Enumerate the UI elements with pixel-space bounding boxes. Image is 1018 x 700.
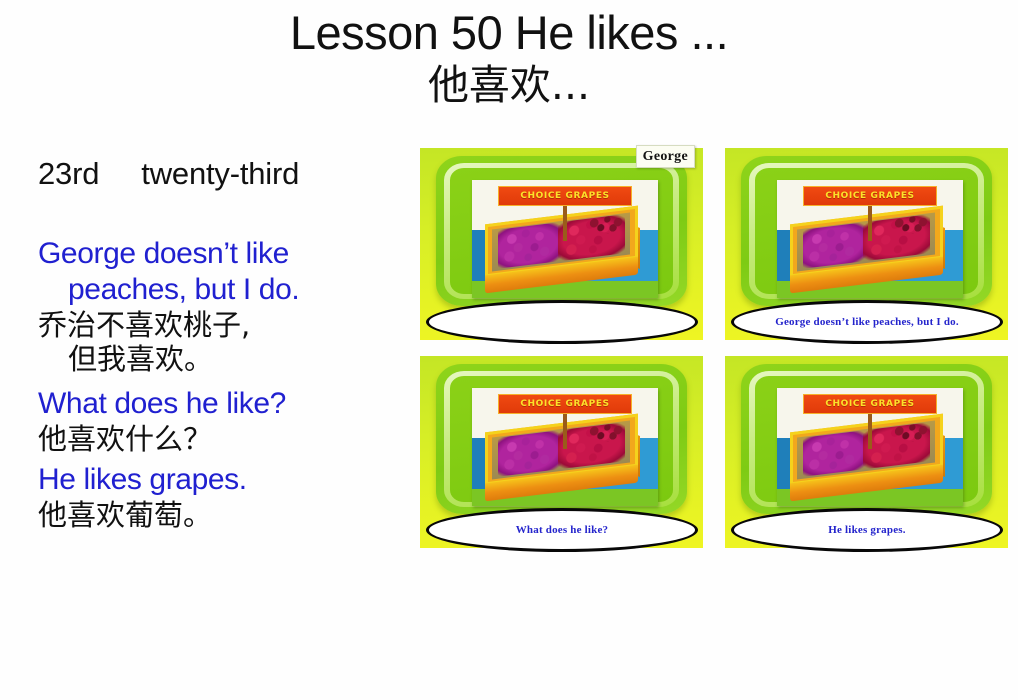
panel-frame-ring: CHOICE GRAPES bbox=[444, 163, 679, 299]
panel-frame-ring: CHOICE GRAPES bbox=[749, 371, 984, 507]
illustration-panel-3[interactable]: CHOICE GRAPES bbox=[420, 356, 703, 548]
sentence-1-english-line-2: peaches, but I do. bbox=[38, 272, 413, 308]
panel-frame-ring: CHOICE GRAPES bbox=[749, 163, 984, 299]
grape-stall-picture: CHOICE GRAPES bbox=[472, 180, 658, 298]
choice-grapes-sign: CHOICE GRAPES bbox=[803, 394, 937, 414]
sentence-2-english: What does he like? bbox=[38, 386, 413, 422]
panel-frame: CHOICE GRAPES bbox=[741, 156, 992, 306]
panel-frame-bed: CHOICE GRAPES bbox=[450, 168, 673, 294]
speech-bubble-4-text: He likes grapes. bbox=[828, 524, 905, 536]
speech-bubble-2: George doesn’t like peaches, but I do. bbox=[731, 300, 1003, 344]
lesson-text-column: 23rd twenty-third George doesn’t like pe… bbox=[38, 156, 413, 532]
sentence-1-chinese-line-2: 但我喜欢。 bbox=[38, 342, 413, 376]
speech-bubble-3: What does he like? bbox=[426, 508, 698, 552]
page-title-chinese: 他喜欢... bbox=[0, 63, 1018, 109]
grape-stall-picture: CHOICE GRAPES bbox=[777, 180, 963, 298]
illustration-grid: CHOICE GRAPES bbox=[420, 148, 1010, 548]
george-nametag-text: George bbox=[643, 149, 688, 164]
illustration-panel-4[interactable]: CHOICE GRAPES bbox=[725, 356, 1008, 548]
panel-frame-bed: CHOICE GRAPES bbox=[755, 376, 978, 502]
panel-frame-bed: CHOICE GRAPES bbox=[755, 168, 978, 294]
sentence-1-chinese-line-1: 乔治不喜欢桃子, bbox=[38, 308, 250, 342]
purple-grapes-cluster bbox=[803, 222, 866, 269]
purple-grapes-cluster bbox=[498, 222, 561, 269]
choice-grapes-sign: CHOICE GRAPES bbox=[803, 186, 937, 206]
choice-grapes-sign: CHOICE GRAPES bbox=[498, 186, 632, 206]
george-nametag: George bbox=[636, 145, 695, 168]
sentence-2-chinese: 他喜欢什么？ bbox=[38, 422, 413, 456]
grape-crate bbox=[790, 423, 943, 491]
choice-grapes-sign-text: CHOICE GRAPES bbox=[825, 191, 914, 201]
ordinal-row: 23rd twenty-third bbox=[38, 156, 413, 192]
sentence-1-chinese: 乔治不喜欢桃子, 但我喜欢。 bbox=[38, 308, 413, 376]
panel-frame: CHOICE GRAPES bbox=[436, 156, 687, 306]
spacer-1 bbox=[38, 376, 413, 386]
choice-grapes-sign-text: CHOICE GRAPES bbox=[520, 399, 609, 409]
sentence-1-english-line-1: George doesn’t like bbox=[38, 237, 289, 270]
panel-frame-ring: CHOICE GRAPES bbox=[444, 371, 679, 507]
choice-grapes-sign: CHOICE GRAPES bbox=[498, 394, 632, 414]
speech-bubble-2-text: George doesn’t like peaches, but I do. bbox=[775, 316, 959, 328]
grape-crate bbox=[485, 215, 638, 283]
illustration-panel-2[interactable]: CHOICE GRAPES bbox=[725, 148, 1008, 340]
grape-crate bbox=[485, 423, 638, 491]
grape-stall-picture: CHOICE GRAPES bbox=[472, 388, 658, 506]
panel-frame: CHOICE GRAPES bbox=[436, 364, 687, 514]
choice-grapes-sign-text: CHOICE GRAPES bbox=[825, 399, 914, 409]
illustration-panel-1[interactable]: CHOICE GRAPES bbox=[420, 148, 703, 340]
grape-crate bbox=[790, 215, 943, 283]
page-title-english: Lesson 50 He likes ... bbox=[0, 8, 1018, 59]
speech-bubble-4: He likes grapes. bbox=[731, 508, 1003, 552]
slide-title-block: Lesson 50 He likes ... 他喜欢... bbox=[0, 8, 1018, 109]
speech-bubble-3-text: What does he like? bbox=[516, 524, 609, 536]
sentence-1-english: George doesn’t like peaches, but I do. bbox=[38, 236, 413, 308]
speech-bubble-1 bbox=[426, 300, 698, 344]
purple-grapes-cluster bbox=[498, 430, 561, 477]
sentence-3-chinese: 他喜欢葡萄。 bbox=[38, 498, 413, 532]
choice-grapes-sign-text: CHOICE GRAPES bbox=[520, 191, 609, 201]
sentence-3-english: He likes grapes. bbox=[38, 462, 413, 498]
grape-stall-picture: CHOICE GRAPES bbox=[777, 388, 963, 506]
panel-frame-bed: CHOICE GRAPES bbox=[450, 376, 673, 502]
purple-grapes-cluster bbox=[803, 430, 866, 477]
panel-frame: CHOICE GRAPES bbox=[741, 364, 992, 514]
